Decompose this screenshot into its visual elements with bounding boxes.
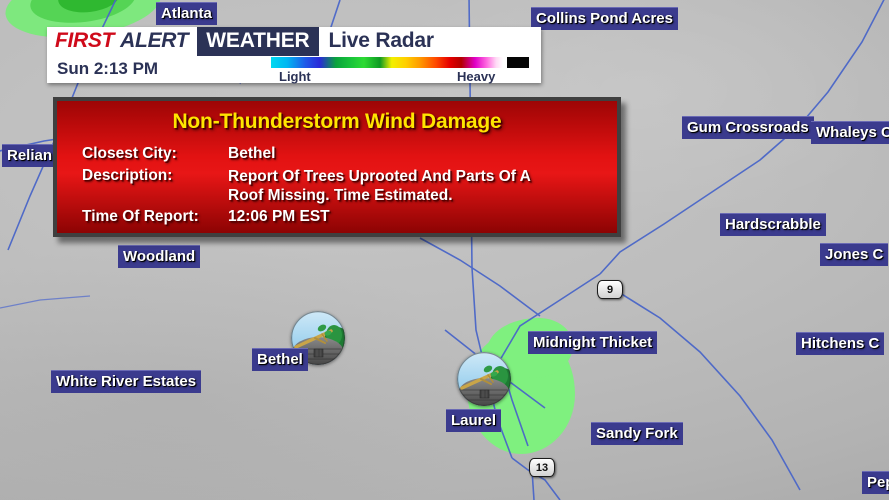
city-label-peppers[interactable]: Pep	[862, 471, 889, 494]
city-label-gum-crossroads[interactable]: Gum Crossroads	[682, 116, 814, 139]
storm-report-alert-box: Non-Thunderstorm Wind Damage Closest Cit…	[53, 97, 621, 237]
description-line-1: Report Of Trees Uprooted And Parts Of A	[228, 167, 531, 186]
brand-alert-text: ALERT	[120, 29, 188, 53]
city-label-jones-crossroads[interactable]: Jones C	[820, 243, 888, 266]
city-label-reliance[interactable]: Relian	[2, 144, 57, 167]
description-line-2: Roof Missing. Time Estimated.	[228, 186, 531, 205]
closest-city-value: Bethel	[228, 145, 275, 163]
city-label-whaleys-corner[interactable]: Whaleys C	[811, 121, 889, 144]
live-radar-text: Live Radar	[329, 29, 434, 53]
city-label-midnight-thicket[interactable]: Midnight Thicket	[528, 331, 657, 354]
radar-screenshot: Atlanta Collins Pond Acres Gum Crossroad…	[0, 0, 889, 500]
time-of-report-value: 12:06 PM EST	[228, 208, 330, 226]
city-label-hitchens-corner[interactable]: Hitchens C	[796, 332, 884, 355]
city-label-woodland[interactable]: Woodland	[118, 245, 200, 268]
highway-shield-9[interactable]: 9	[597, 280, 623, 299]
station-branding-banner: FIRST ALERT WEATHER Live Radar Sun 2:13 …	[47, 27, 541, 83]
scale-light-label: Light	[279, 69, 311, 84]
wind-damage-icon-laurel[interactable]	[457, 352, 511, 406]
description-value: Report Of Trees Uprooted And Parts Of A …	[228, 167, 531, 205]
reflectivity-max-swatch	[507, 57, 529, 68]
city-label-hardscrabble[interactable]: Hardscrabble	[720, 213, 826, 236]
reflectivity-scale: Light Heavy	[271, 57, 531, 83]
city-label-laurel[interactable]: Laurel	[446, 409, 501, 432]
reflectivity-color-bar	[271, 57, 503, 68]
city-label-collins-pond-acres[interactable]: Collins Pond Acres	[531, 7, 678, 30]
highway-shield-13[interactable]: 13	[529, 458, 555, 477]
description-label: Description:	[82, 167, 172, 185]
scale-heavy-label: Heavy	[457, 69, 495, 84]
city-label-white-river-estates[interactable]: White River Estates	[51, 370, 201, 393]
banner-title-row: FIRST ALERT WEATHER Live Radar	[47, 27, 541, 55]
timestamp-text: Sun 2:13 PM	[57, 59, 158, 79]
city-label-sandy-fork[interactable]: Sandy Fork	[591, 422, 683, 445]
brand-weather-text: WEATHER	[197, 27, 318, 56]
brand-first-text: FIRST	[55, 29, 114, 53]
city-label-bethel[interactable]: Bethel	[252, 348, 308, 371]
closest-city-label: Closest City:	[82, 145, 177, 163]
city-label-atlanta[interactable]: Atlanta	[156, 2, 217, 25]
time-of-report-label: Time Of Report:	[82, 208, 199, 226]
banner-scale-row: Sun 2:13 PM Light Heavy	[47, 55, 541, 83]
alert-title: Non-Thunderstorm Wind Damage	[57, 110, 617, 134]
